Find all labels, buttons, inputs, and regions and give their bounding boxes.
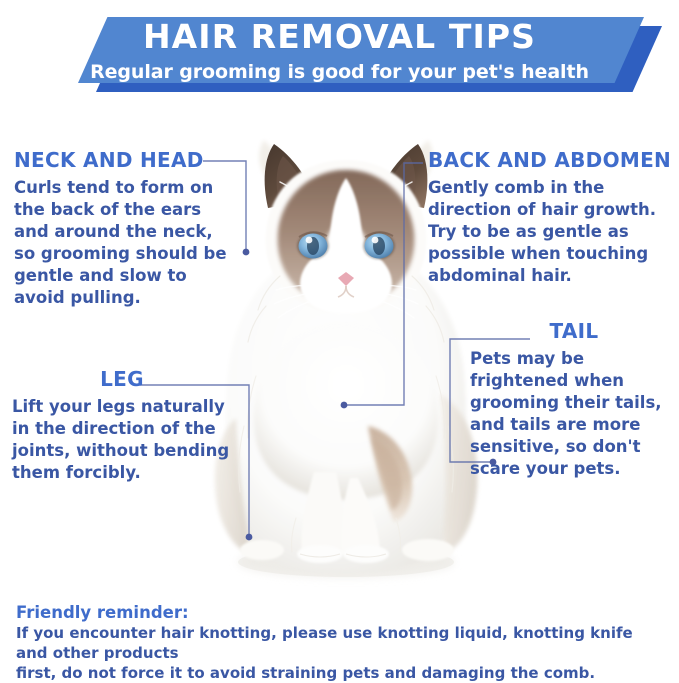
callout-title-tail: TAIL: [470, 320, 678, 342]
footer-note: Friendly reminder: If you encounter hair…: [16, 603, 666, 683]
callout-body-neck-and-head: Curls tend to form on the back of the ea…: [14, 177, 229, 309]
footer-title: Friendly reminder:: [16, 603, 666, 624]
page-title: HAIR REMOVAL TIPS: [0, 20, 679, 53]
callout-back-and-abdomen: BACK AND ABDOMEN Gently comb in the dire…: [428, 149, 678, 287]
header-banner: HAIR REMOVAL TIPS Regular grooming is go…: [0, 0, 679, 100]
callout-neck-and-head: NECK AND HEAD Curls tend to form on the …: [14, 149, 229, 309]
infographic-root: HAIR REMOVAL TIPS Regular grooming is go…: [0, 0, 679, 679]
callout-title-back-and-abdomen: BACK AND ABDOMEN: [428, 149, 678, 171]
callout-title-neck-and-head: NECK AND HEAD: [14, 149, 229, 171]
footer-line-2: first, do not force it to avoid strainin…: [16, 664, 666, 683]
footer-line-1: If you encounter hair knotting, please u…: [16, 624, 666, 664]
callout-body-back-and-abdomen: Gently comb in the direction of hair gro…: [428, 177, 678, 287]
callout-tail: TAIL Pets may be frightened when groomin…: [470, 320, 678, 480]
callout-body-leg: Lift your legs naturally in the directio…: [12, 396, 232, 484]
callout-body-tail: Pets may be frightened when grooming the…: [470, 348, 678, 480]
page-subtitle: Regular grooming is good for your pet's …: [0, 63, 679, 82]
callout-title-leg: LEG: [12, 368, 232, 390]
callout-leg: LEG Lift your legs naturally in the dire…: [12, 368, 232, 484]
